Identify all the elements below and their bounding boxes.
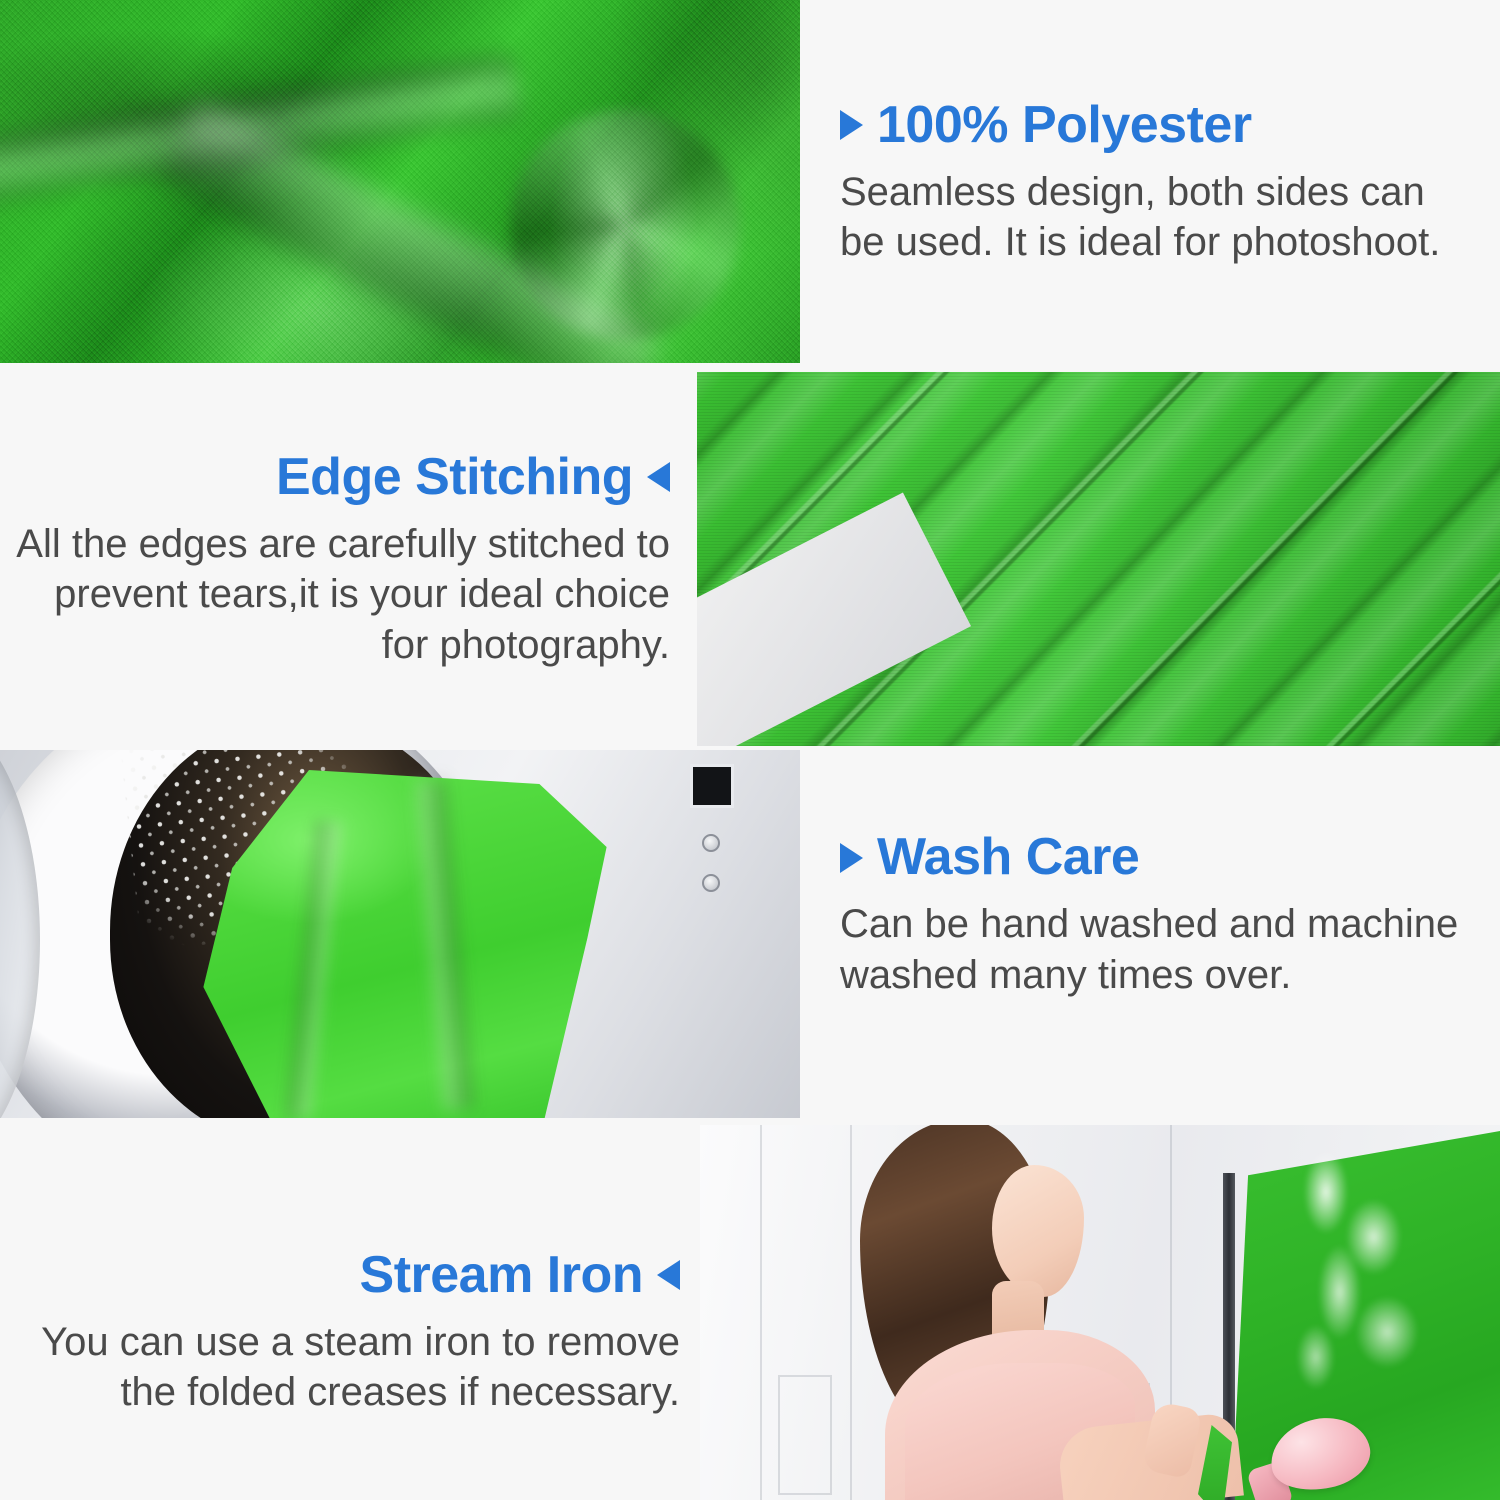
feature-block-wash-care: Wash Care Can be hand washed and machine… <box>840 810 1490 1020</box>
washer-control-knob <box>702 874 720 892</box>
wall-art-frame <box>778 1375 832 1495</box>
feature-heading-stream-iron: Stream Iron <box>360 1248 680 1303</box>
feature-body-edge-stitching: All the edges are carefully stitched to … <box>10 519 670 670</box>
feature-body-wash-care: Can be hand washed and machine washed ma… <box>840 899 1490 1000</box>
fabric-weave-image <box>0 0 800 363</box>
triangle-left-icon <box>647 462 670 492</box>
feature-block-edge-stitching: Edge Stitching All the edges are careful… <box>10 420 670 700</box>
feature-block-polyester: 100% Polyester Seamless design, both sid… <box>840 60 1480 305</box>
feature-heading-wash-care: Wash Care <box>840 830 1139 885</box>
washer-display-panel <box>690 764 734 808</box>
triangle-right-icon <box>840 843 863 873</box>
feature-heading-edge-stitching: Edge Stitching <box>276 450 670 505</box>
fabric-swirl-center <box>510 110 740 340</box>
triangle-left-icon <box>657 1260 680 1290</box>
wall-panel-line <box>850 1125 852 1500</box>
feature-heading-text: Wash Care <box>877 830 1139 885</box>
washer-control-knob <box>702 834 720 852</box>
feature-heading-text: Stream Iron <box>360 1248 643 1303</box>
feature-body-stream-iron: You can use a steam iron to remove the f… <box>40 1317 680 1418</box>
edge-stitching-image <box>697 372 1500 746</box>
steam-cloud <box>1275 1147 1445 1397</box>
feature-body-polyester: Seamless design, both sides can be used.… <box>840 167 1480 268</box>
feature-block-stream-iron: Stream Iron You can use a steam iron to … <box>40 1210 680 1455</box>
wall-panel-line <box>760 1125 762 1500</box>
steam-iron-demo-image <box>700 1125 1500 1500</box>
feature-heading-text: 100% Polyester <box>877 98 1252 153</box>
feature-heading-polyester: 100% Polyester <box>840 98 1252 153</box>
feature-heading-text: Edge Stitching <box>276 450 633 505</box>
triangle-right-icon <box>840 110 863 140</box>
washing-machine-image <box>0 750 800 1118</box>
product-feature-infographic: 100% Polyester Seamless design, both sid… <box>0 0 1500 1500</box>
